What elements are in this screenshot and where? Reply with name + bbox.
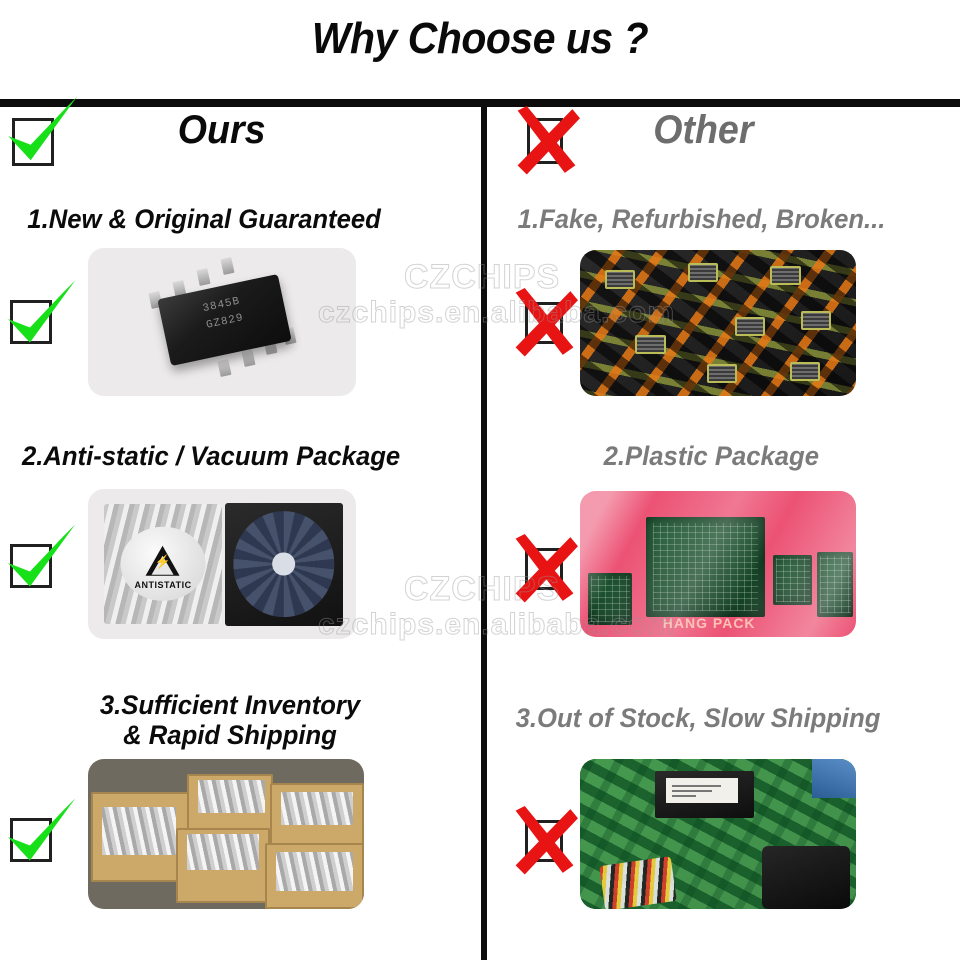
cpu-die-icon (635, 335, 665, 354)
check-glyph (0, 790, 82, 874)
feature-heading-ours-3-line1: 3.Sufficient Inventory (59, 690, 401, 720)
label-line (672, 785, 721, 787)
cross-glyph (507, 101, 583, 181)
pcb-scrap-heap-photo (580, 759, 856, 909)
antistatic-pack-stack (187, 834, 259, 870)
cross-mark-icon (525, 548, 563, 590)
cpu-die-icon (688, 263, 718, 282)
bag-label-disc: ⚡ ANTISTATIC (121, 527, 206, 601)
check-glyph (0, 88, 84, 174)
header-divider (0, 99, 960, 107)
cpu-die-icon (735, 317, 765, 336)
cross-glyph (505, 531, 581, 607)
bag-print-text: HANG PACK (663, 615, 756, 631)
check-glyph (0, 272, 82, 356)
component-reel (233, 511, 334, 617)
antistatic-package-photo: ⚡ ANTISTATIC (88, 489, 356, 639)
antistatic-bag: ⚡ ANTISTATIC (104, 504, 222, 624)
chip-pin-icon (218, 360, 232, 378)
feature-heading-other-3: 3.Out of Stock, Slow Shipping (516, 703, 881, 733)
antistatic-pack-stack (198, 780, 264, 813)
scrap-cpu-pile (580, 250, 856, 396)
cross-glyph (505, 803, 581, 879)
column-header-other: Other (653, 108, 753, 153)
feature-heading-ours-3-line2: & Rapid Shipping (59, 720, 401, 750)
module-label (666, 778, 738, 802)
photo-ours-2: ⚡ ANTISTATIC (88, 489, 356, 639)
antistatic-pack-stack (276, 852, 353, 891)
cpu-die-icon (801, 311, 831, 330)
photo-ours-3 (88, 759, 364, 909)
column-divider (481, 107, 487, 960)
why-choose-us-comparison-banner: Why Choose us ? Ours Other 1.New & Origi… (0, 0, 960, 960)
feature-heading-other-2: 2.Plastic Package (604, 441, 819, 471)
label-line (672, 790, 712, 792)
antistatic-label: ANTISTATIC (121, 579, 206, 589)
photo-other-3 (580, 759, 856, 909)
feature-heading-ours-3: 3.Sufficient Inventory & Rapid Shipping (59, 690, 401, 750)
column-header-ours: Ours (178, 108, 266, 153)
photo-other-2: HANG PACK (580, 491, 856, 637)
cable-bundle (599, 856, 676, 909)
inventory-cartons-photo (88, 759, 364, 909)
photo-other-1 (580, 250, 856, 396)
page-title: Why Choose us ? (34, 14, 927, 64)
chip-pin-icon (242, 349, 256, 367)
feature-heading-other-1: 1.Fake, Refurbished, Broken... (518, 204, 886, 234)
cpu-die-icon (707, 364, 737, 383)
lightning-bolt-icon: ⚡ (155, 554, 171, 570)
chip-pin-icon (196, 268, 210, 286)
antistatic-pack-stack (102, 807, 177, 855)
cross-mark-icon (525, 302, 563, 344)
check-mark-icon (12, 118, 54, 166)
cross-mark-icon (527, 118, 563, 164)
sky-background (812, 759, 856, 798)
feature-heading-ours-1: 1.New & Original Guaranteed (27, 204, 380, 234)
check-glyph (0, 516, 82, 600)
antistatic-pack-stack (281, 792, 353, 825)
check-mark-icon (10, 300, 52, 344)
chip-pin-icon (220, 257, 234, 275)
cpu-die-icon (770, 266, 800, 285)
cpu-die-icon (605, 270, 635, 289)
label-line (672, 795, 696, 797)
cross-mark-icon (525, 820, 563, 862)
photo-ours-1: 3845B GZ829 (88, 248, 356, 396)
cpu-die-icon (790, 362, 820, 381)
chip-photo-content: 3845B GZ829 (88, 248, 356, 396)
check-mark-icon (10, 544, 52, 588)
pink-plastic-bag-photo: HANG PACK (580, 491, 856, 637)
component-reel-box (225, 503, 343, 626)
black-module (655, 771, 754, 818)
check-mark-icon (10, 818, 52, 862)
feature-heading-ours-2: 2.Anti-static / Vacuum Package (22, 441, 400, 471)
dark-device-shell (762, 846, 850, 909)
cross-glyph (505, 285, 581, 361)
